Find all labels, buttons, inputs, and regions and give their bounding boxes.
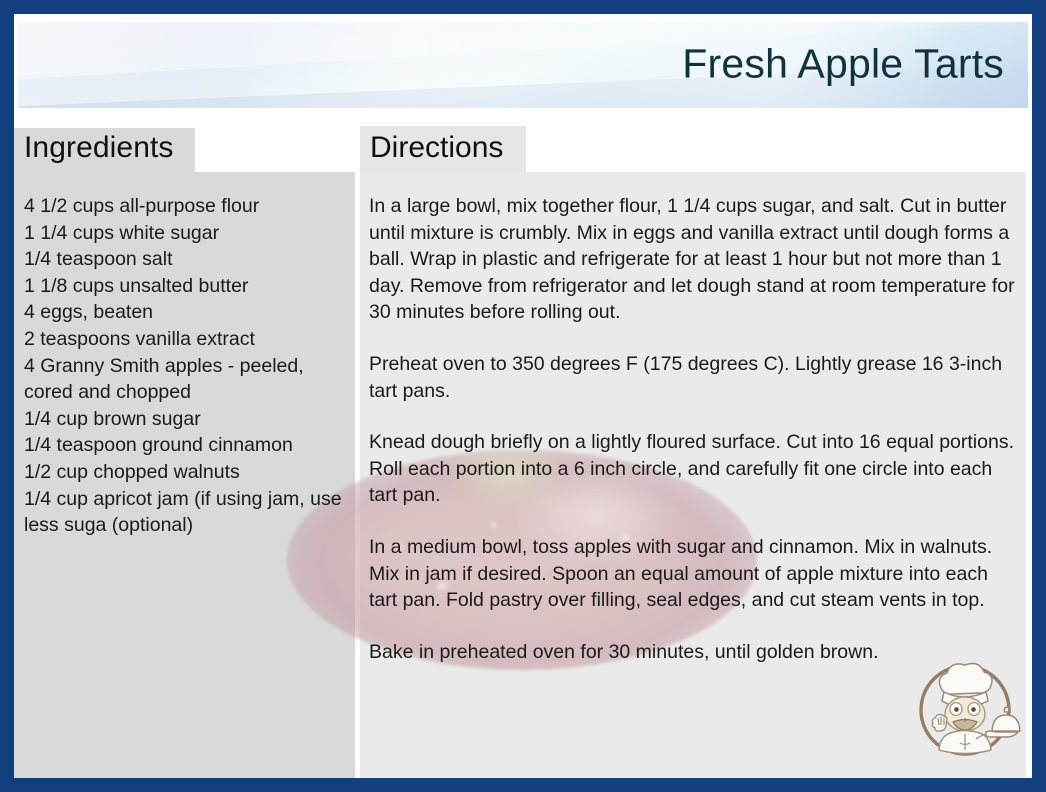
- ingredients-list: 4 1/2 cups all-purpose flour1 1/4 cups w…: [24, 193, 344, 539]
- direction-step: Preheat oven to 350 degrees F (175 degre…: [369, 351, 1019, 404]
- slide-border-bottom: [0, 778, 1046, 792]
- direction-step: In a large bowl, mix together flour, 1 1…: [369, 193, 1019, 326]
- ingredient-item: 4 1/2 cups all-purpose flour: [24, 193, 344, 220]
- ingredient-item: 1/4 cup apricot jam (if using jam, use l…: [24, 486, 344, 539]
- direction-step: Knead dough briefly on a lightly floured…: [369, 429, 1019, 509]
- ingredient-item: 1 1/4 cups white sugar: [24, 220, 344, 247]
- ingredient-item: 2 teaspoons vanilla extract: [24, 326, 344, 353]
- ingredient-item: 1/2 cup chopped walnuts: [24, 459, 344, 486]
- page-title: Fresh Apple Tarts: [682, 41, 1004, 88]
- ingredient-item: 1/4 cup brown sugar: [24, 406, 344, 433]
- ingredient-item: 1/4 teaspoon ground cinnamon: [24, 432, 344, 459]
- recipe-slide: Fresh Apple Tarts Ingredients 4 1/2 cups…: [0, 0, 1046, 792]
- ingredient-item: 1 1/8 cups unsalted butter: [24, 273, 344, 300]
- slide-border-top: [0, 0, 1046, 14]
- ingredient-item: 4 Granny Smith apples - peeled, cored an…: [24, 353, 344, 406]
- slide-border-left: [0, 0, 14, 792]
- direction-step: In a medium bowl, toss apples with sugar…: [369, 534, 1019, 614]
- ingredient-item: 4 eggs, beaten: [24, 299, 344, 326]
- directions-heading: Directions: [370, 131, 503, 165]
- chef-mascot-logo: [908, 648, 1022, 766]
- title-banner: Fresh Apple Tarts: [18, 22, 1028, 108]
- slide-border-right: [1032, 0, 1046, 792]
- directions-steps: In a large bowl, mix together flour, 1 1…: [369, 193, 1019, 665]
- ingredients-heading: Ingredients: [24, 131, 174, 165]
- ingredient-item: 1/4 teaspoon salt: [24, 246, 344, 273]
